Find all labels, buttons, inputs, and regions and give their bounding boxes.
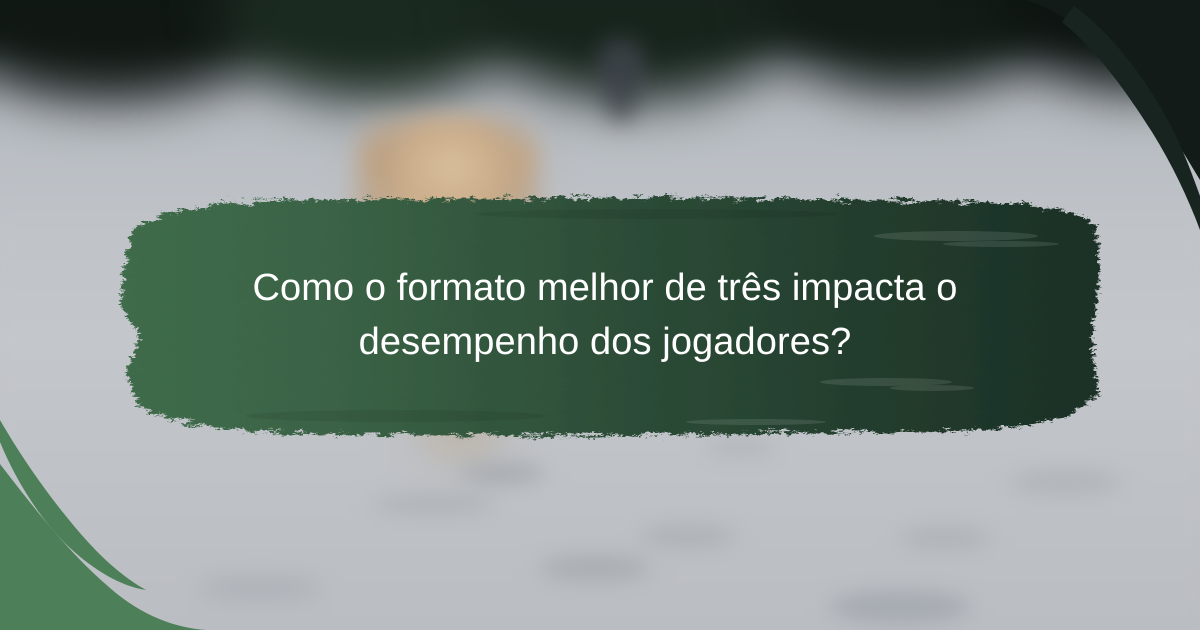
- page-title: Como o formato melhor de três impacta o …: [150, 262, 1060, 370]
- social-share-card: Como o formato melhor de três impacta o …: [0, 0, 1200, 630]
